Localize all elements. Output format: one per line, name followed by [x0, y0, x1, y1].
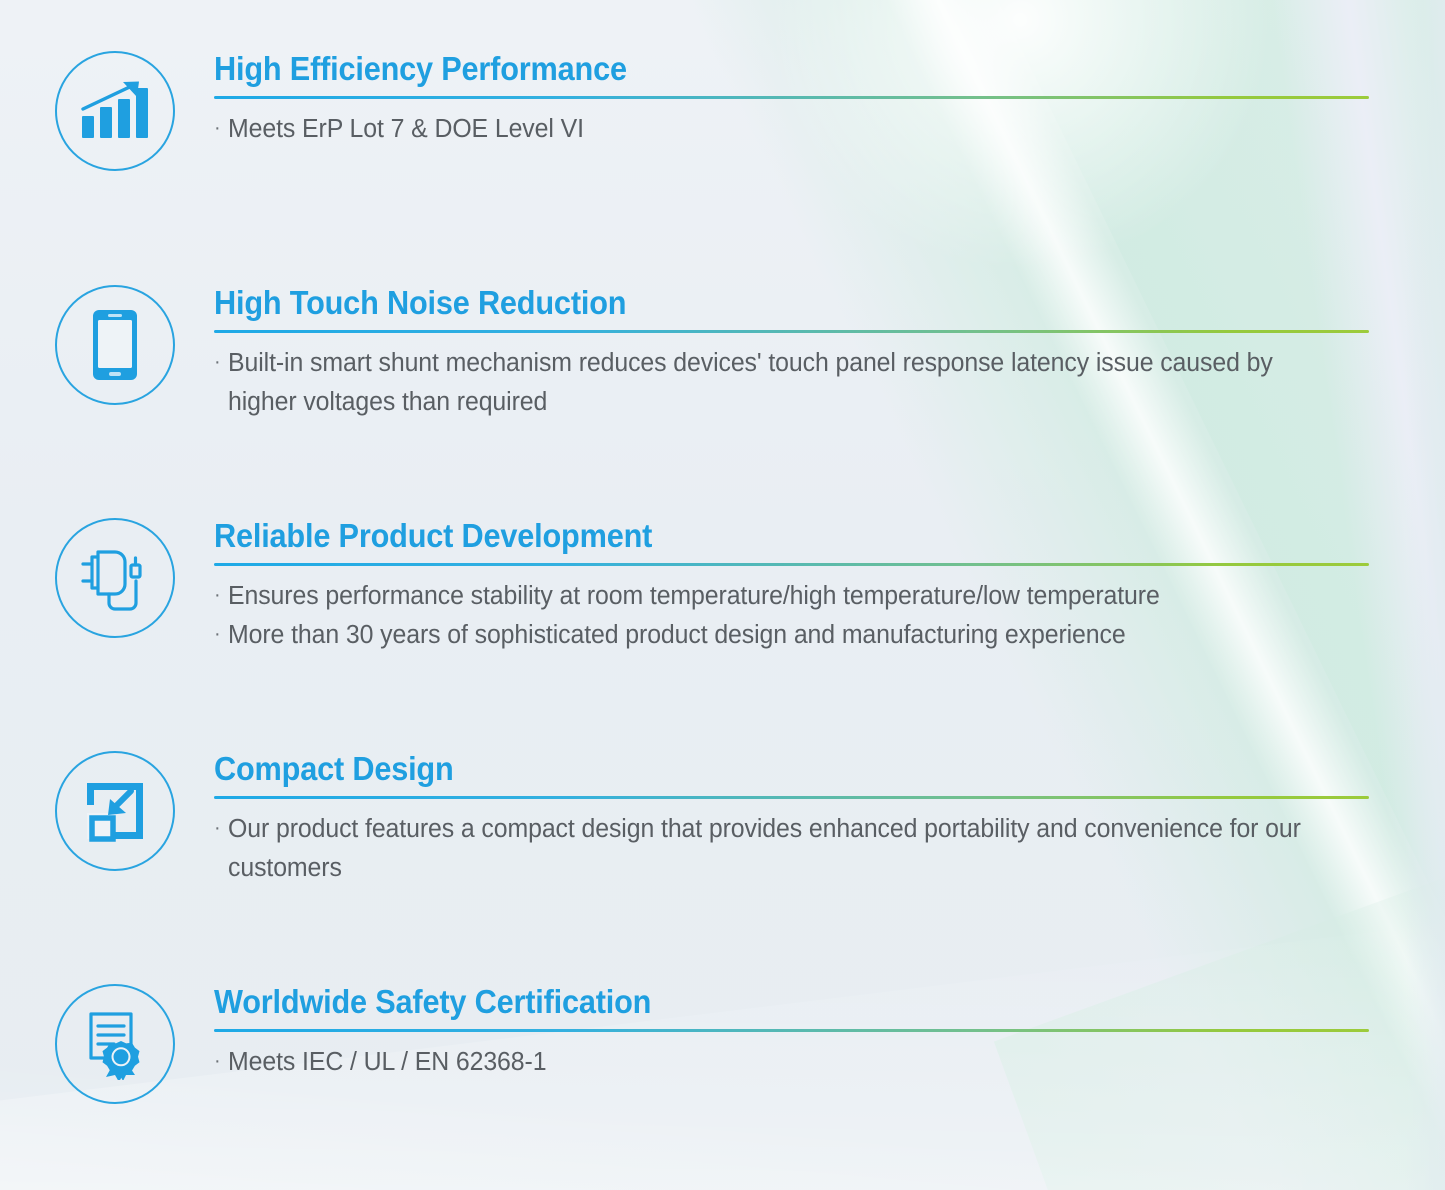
- feature-divider: [214, 1029, 1369, 1032]
- bullet-item: · Built-in smart shunt mechanism reduces…: [214, 344, 1369, 422]
- feature-body: High Efficiency Performance · Meets ErP …: [214, 51, 1369, 149]
- bullet-text: Ensures performance stability at room te…: [228, 577, 1160, 616]
- feature-bullets: · Ensures performance stability at room …: [214, 577, 1369, 655]
- feature-title: Worldwide Safety Certification: [214, 984, 1288, 1021]
- bullet-marker-icon: ·: [214, 352, 221, 372]
- bullet-text: Our product features a compact design th…: [228, 810, 1341, 888]
- feature-bullets: · Our product features a compact design …: [214, 810, 1369, 888]
- bullet-text: Built-in smart shunt mechanism reduces d…: [228, 344, 1341, 422]
- bar-chart-growth-icon: [55, 51, 175, 171]
- feature-title: Compact Design: [214, 751, 1288, 788]
- feature-item-reliable-product-development: Reliable Product Development · Ensures p…: [0, 518, 1445, 654]
- feature-bullets: · Meets ErP Lot 7 & DOE Level VI: [214, 110, 1369, 149]
- feature-title: High Touch Noise Reduction: [214, 285, 1288, 322]
- feature-divider: [214, 796, 1369, 799]
- bullet-text: More than 30 years of sophisticated prod…: [228, 616, 1126, 655]
- bullet-marker-icon: ·: [214, 624, 221, 644]
- bullet-text: Meets IEC / UL / EN 62368-1: [228, 1043, 546, 1082]
- power-adapter-icon: [55, 518, 175, 638]
- bullet-marker-icon: ·: [214, 1051, 221, 1071]
- feature-body: High Touch Noise Reduction · Built-in sm…: [214, 285, 1369, 421]
- bullet-text: Meets ErP Lot 7 & DOE Level VI: [228, 110, 584, 149]
- feature-item-compact-design: Compact Design · Our product features a …: [0, 751, 1445, 887]
- feature-icon-wrap: [53, 751, 177, 871]
- feature-bullets: · Built-in smart shunt mechanism reduces…: [214, 344, 1369, 422]
- bullet-marker-icon: ·: [214, 818, 221, 838]
- feature-highlights-page: High Efficiency Performance · Meets ErP …: [0, 0, 1445, 1190]
- bullet-marker-icon: ·: [214, 585, 221, 605]
- feature-icon-wrap: [53, 51, 177, 171]
- feature-icon-wrap: [53, 984, 177, 1104]
- bullet-marker-icon: ·: [214, 118, 221, 138]
- feature-body: Reliable Product Development · Ensures p…: [214, 518, 1369, 654]
- feature-icon-wrap: [53, 285, 177, 405]
- feature-item-high-touch-noise-reduction: High Touch Noise Reduction · Built-in sm…: [0, 285, 1445, 421]
- compact-resize-icon: [55, 751, 175, 871]
- feature-item-worldwide-safety-certification: Worldwide Safety Certification · Meets I…: [0, 984, 1445, 1104]
- feature-title: High Efficiency Performance: [214, 51, 1288, 88]
- feature-divider: [214, 330, 1369, 333]
- feature-body: Compact Design · Our product features a …: [214, 751, 1369, 887]
- bullet-item: · Meets IEC / UL / EN 62368-1: [214, 1043, 1369, 1082]
- feature-item-high-efficiency-performance: High Efficiency Performance · Meets ErP …: [0, 51, 1445, 171]
- feature-icon-wrap: [53, 518, 177, 638]
- certificate-award-icon: [55, 984, 175, 1104]
- feature-divider: [214, 96, 1369, 99]
- feature-divider: [214, 563, 1369, 566]
- bullet-item: · Our product features a compact design …: [214, 810, 1369, 888]
- feature-bullets: · Meets IEC / UL / EN 62368-1: [214, 1043, 1369, 1082]
- bullet-item: · More than 30 years of sophisticated pr…: [214, 616, 1369, 655]
- feature-body: Worldwide Safety Certification · Meets I…: [214, 984, 1369, 1082]
- bullet-item: · Ensures performance stability at room …: [214, 577, 1369, 616]
- smartphone-icon: [55, 285, 175, 405]
- bullet-item: · Meets ErP Lot 7 & DOE Level VI: [214, 110, 1369, 149]
- feature-title: Reliable Product Development: [214, 518, 1288, 555]
